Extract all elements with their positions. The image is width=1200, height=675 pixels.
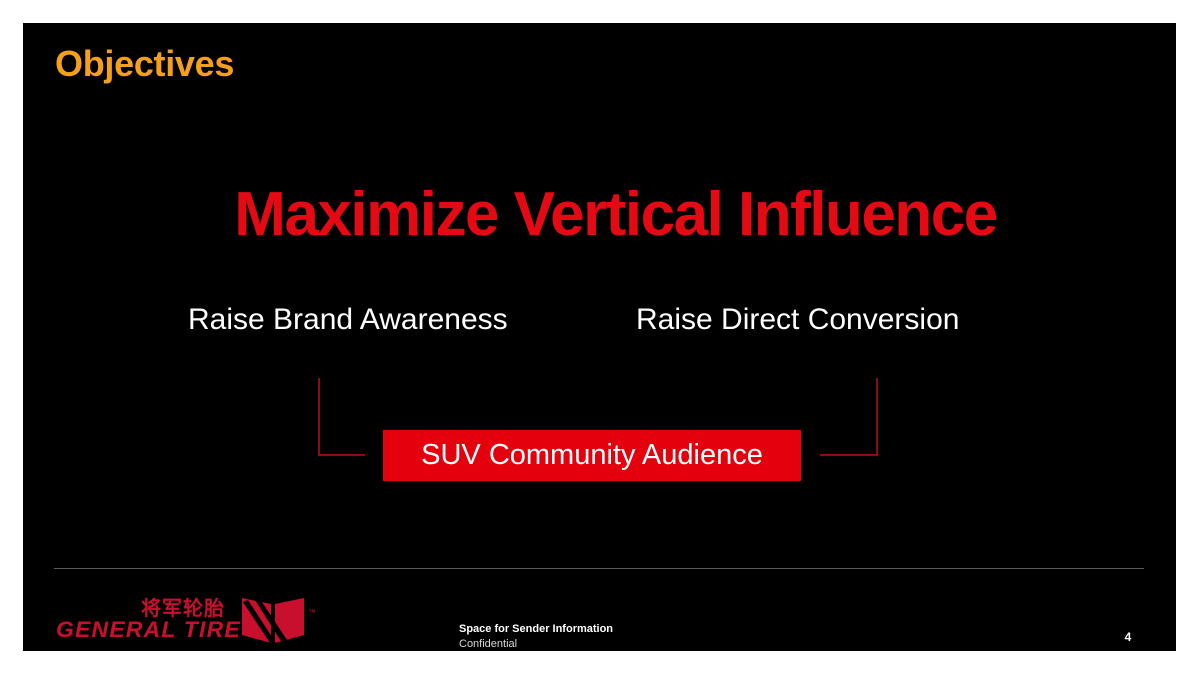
sender-title: Space for Sender Information <box>459 622 613 637</box>
objective-label-brand-awareness: Raise Brand Awareness <box>188 301 508 339</box>
footer-divider <box>54 568 1144 569</box>
bracket-right-connector <box>820 378 878 456</box>
trademark-icon: ™ <box>308 609 316 617</box>
page-title: Objectives <box>55 42 234 85</box>
objective-label-direct-conversion: Raise Direct Conversion <box>636 301 959 339</box>
slide-canvas: Objectives Maximize Vertical Influence R… <box>23 23 1176 651</box>
slide-footer: 将军轮胎 GENERAL TIRE ™ Space for Sender Inf… <box>23 578 1176 651</box>
logo-english-name: GENERAL TIRE <box>56 619 241 641</box>
headline-text: Maximize Vertical Influence <box>23 179 1176 250</box>
sender-information-block: Space for Sender Information Confidentia… <box>459 622 613 651</box>
general-tire-shield-icon <box>242 598 304 643</box>
general-tire-logo: 将军轮胎 GENERAL TIRE ™ <box>56 598 326 646</box>
audience-chip-label: SUV Community Audience <box>421 441 763 470</box>
bracket-left-connector <box>318 378 365 456</box>
sender-subtitle: Confidential <box>459 637 613 651</box>
page-number: 4 <box>1113 631 1143 643</box>
logo-chinese-name: 将军轮胎 <box>141 598 225 618</box>
audience-chip: SUV Community Audience <box>383 430 801 481</box>
